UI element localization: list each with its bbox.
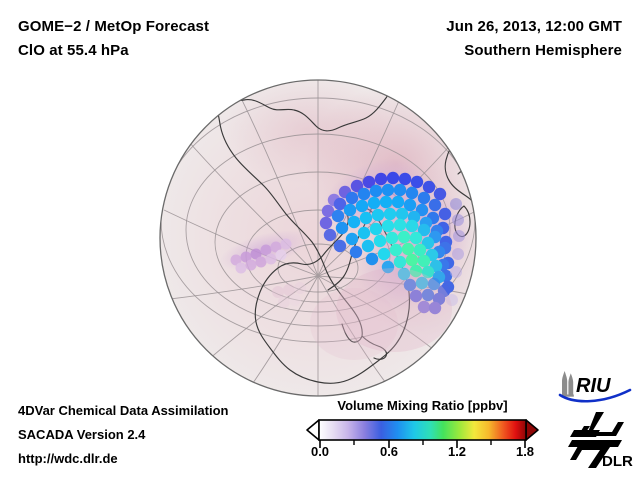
figure-timestamp: Jun 26, 2013, 12:00 GMT [446,18,622,35]
colorbar-tick-3: 1.8 [516,444,534,459]
riu-spire-icon [561,371,573,397]
colorbar-arrow-low [307,420,319,440]
coastline-southern-islands [190,378,234,394]
figure-title-instrument: GOME−2 / MetOp Forecast [18,18,209,35]
colorbar: Volume Mixing Ratio [ppbv] [305,398,540,470]
globe-map [158,78,478,398]
colorbar-arrow-high [526,420,538,440]
colorbar-gradient [319,420,526,440]
figure-region: Southern Hemisphere [464,42,622,59]
riu-logo: RIU [556,370,636,404]
orthographic-projection [158,78,478,398]
riu-logo-text: RIU [576,375,611,397]
plume-tail-haze-2 [310,288,398,360]
footer-url[interactable]: http://wdc.dlr.de [18,451,118,466]
colorbar-tick-1: 0.6 [380,444,398,459]
colorbar-title: Volume Mixing Ratio [ppbv] [305,398,540,413]
figure-title-species: ClO at 55.4 hPa [18,42,129,59]
dlr-logo: DLR [566,410,634,470]
footer-version: SACADA Version 2.4 [18,427,145,442]
colorbar-tick-0: 0.0 [311,444,329,459]
figure-canvas: GOME−2 / MetOp Forecast ClO at 55.4 hPa … [0,0,640,480]
colorbar-tick-2: 1.2 [448,444,466,459]
colorbar-scale [305,417,540,461]
dlr-logo-text: DLR [602,453,633,470]
footer-method: 4DVar Chemical Data Assimilation [18,403,229,418]
